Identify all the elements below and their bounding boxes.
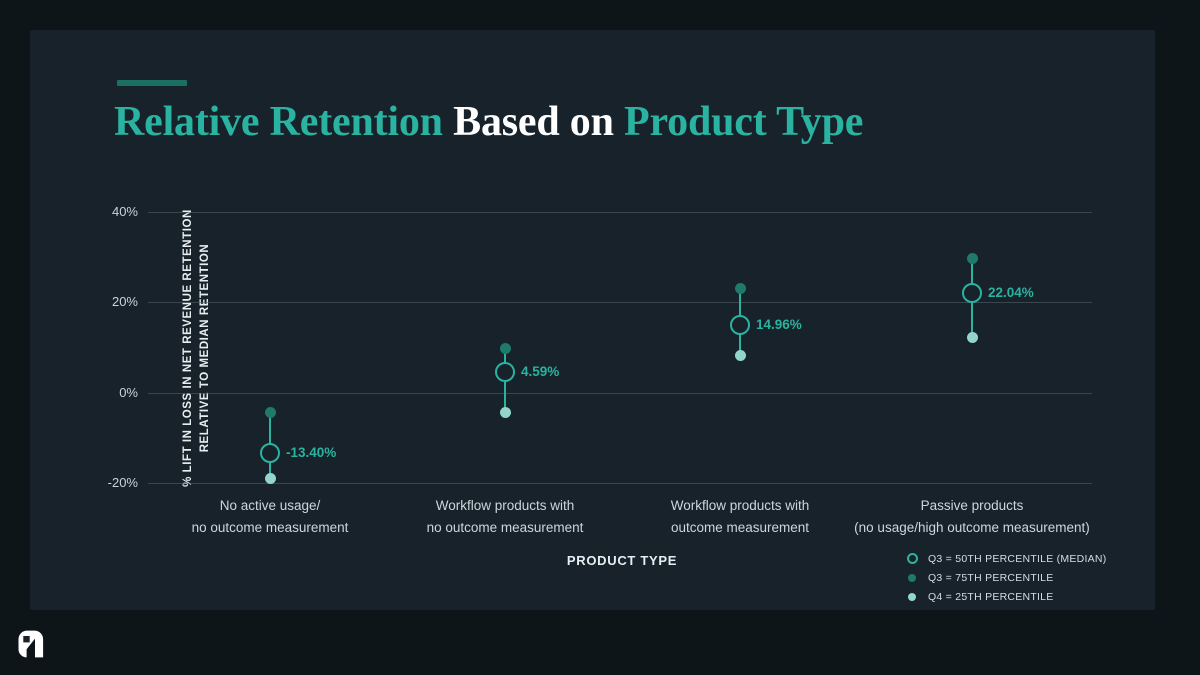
percentile-25-marker[interactable] (967, 332, 978, 343)
y-axis-tick-label: 0% (78, 385, 138, 400)
x-axis-category-line: outcome measurement (605, 517, 875, 539)
legend-marker (905, 574, 919, 582)
percentile-25-marker[interactable] (735, 350, 746, 361)
median-marker[interactable] (495, 362, 515, 382)
legend-item[interactable]: Q4 = 25TH PERCENTILE (905, 587, 1135, 606)
median-value-label: 14.96% (756, 317, 802, 332)
chart-legend: Q3 = 50TH PERCENTILE (MEDIAN)Q3 = 75TH P… (905, 549, 1135, 606)
legend-marker (905, 553, 919, 564)
percentile-75-marker[interactable] (735, 283, 746, 294)
median-ring-icon (907, 553, 918, 564)
x-axis-category-label: Workflow products withoutcome measuremen… (605, 495, 875, 539)
median-value-label: 22.04% (988, 285, 1034, 300)
gridline (148, 393, 1092, 394)
chart-plot-area: % LIFT IN LOSS IN NET REVENUE RETENTION … (0, 0, 1200, 675)
x-axis-category-line: Workflow products with (370, 495, 640, 517)
slide: Relative Retention Based on Product Type… (0, 0, 1200, 675)
legend-item[interactable]: Q3 = 75TH PERCENTILE (905, 568, 1135, 587)
median-value-label: 4.59% (521, 364, 559, 379)
x-axis-category-label: No active usage/no outcome measurement (135, 495, 405, 539)
x-axis-category-line: Workflow products with (605, 495, 875, 517)
y-axis-tick-label: 40% (78, 204, 138, 219)
x-axis-category-line: Passive products (837, 495, 1107, 517)
percentile-25-marker[interactable] (500, 407, 511, 418)
y-axis-tick-label: -20% (78, 475, 138, 490)
gridline (148, 212, 1092, 213)
x-axis-category-line: (no usage/high outcome measurement) (837, 517, 1107, 539)
legend-label: Q4 = 25TH PERCENTILE (928, 591, 1054, 603)
gridline (148, 302, 1092, 303)
legend-label: Q3 = 75TH PERCENTILE (928, 572, 1054, 584)
x-axis-category-label: Workflow products withno outcome measure… (370, 495, 640, 539)
legend-item[interactable]: Q3 = 50TH PERCENTILE (MEDIAN) (905, 549, 1135, 568)
percentile-75-marker[interactable] (500, 343, 511, 354)
percentile-75-marker[interactable] (265, 407, 276, 418)
gridline (148, 483, 1092, 484)
median-value-label: -13.40% (286, 445, 336, 460)
x-axis-category-label: Passive products(no usage/high outcome m… (837, 495, 1107, 539)
x-axis-category-line: no outcome measurement (370, 517, 640, 539)
median-marker[interactable] (962, 283, 982, 303)
percentile-25-dot-icon (908, 593, 916, 601)
legend-marker (905, 593, 919, 601)
x-axis-category-line: No active usage/ (135, 495, 405, 517)
y-axis-title: % LIFT IN LOSS IN NET REVENUE RETENTION … (38, 198, 78, 498)
median-marker[interactable] (730, 315, 750, 335)
pendo-logo (13, 627, 47, 661)
percentile-25-marker[interactable] (265, 473, 276, 484)
legend-label: Q3 = 50TH PERCENTILE (MEDIAN) (928, 553, 1107, 565)
percentile-75-dot-icon (908, 574, 916, 582)
percentile-75-marker[interactable] (967, 253, 978, 264)
x-axis-category-line: no outcome measurement (135, 517, 405, 539)
y-axis-tick-label: 20% (78, 294, 138, 309)
